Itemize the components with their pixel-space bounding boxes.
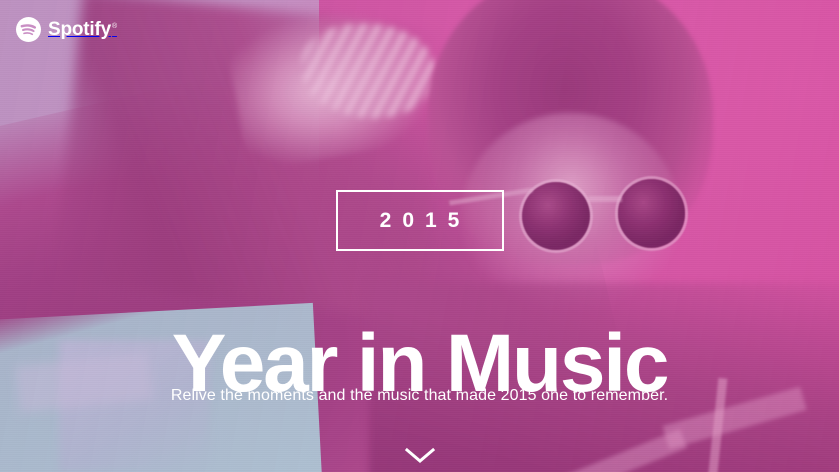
spotify-logo[interactable]: Spotify® — [16, 17, 117, 42]
scroll-down-button[interactable] — [403, 446, 437, 466]
year-in-music-hero: Spotify® 2015 Year in Music Relive the m… — [0, 0, 839, 472]
year-label: 2015 — [369, 210, 471, 231]
spotify-wordmark: Spotify® — [48, 20, 117, 39]
year-badge: 2015 — [336, 190, 504, 251]
chevron-down-icon — [403, 446, 437, 466]
spotify-wordmark-text: Spotify — [48, 19, 111, 40]
spotify-logo-icon — [16, 17, 41, 42]
trademark-symbol: ® — [112, 23, 117, 30]
